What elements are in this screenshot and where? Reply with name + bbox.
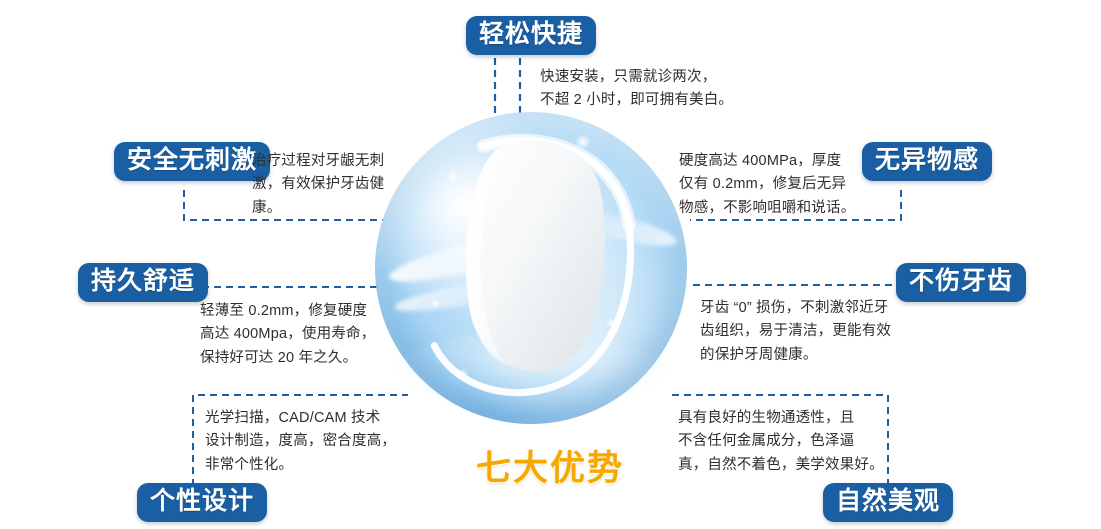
badge-safe[interactable]: 安全无刺激 [114,142,270,181]
center-circle-graphic [375,112,687,424]
desc-natural-beauty: 具有良好的生物通透性，且 不含任何金属成分，色泽逼 真，自然不着色，美学效果好。 [678,407,893,477]
badge-no-foreign-body[interactable]: 无异物感 [862,142,992,181]
desc-fast: 快速安装，只需就诊两次， 不超 2 小时，即可拥有美白。 [540,66,840,113]
connector-comfort [190,285,395,289]
badge-comfort[interactable]: 持久舒适 [78,263,208,302]
badge-custom-design[interactable]: 个性设计 [137,483,267,522]
desc-safe: 治疗过程对牙龈无刺 激，有效保护牙齿健 康。 [252,150,402,220]
center-title: 七大优势 [440,440,660,491]
badge-natural-beauty[interactable]: 自然美观 [823,483,953,522]
desc-custom-design: 光学扫描，CAD/CAM 技术 设计制造，度高，密合度高， 非常个性化。 [205,407,420,477]
desc-comfort: 轻薄至 0.2mm，修复硬度 高达 400Mpa，使用寿命， 保持好可达 20 … [200,300,400,370]
badge-no-harm[interactable]: 不伤牙齿 [896,263,1026,302]
desc-no-harm: 牙齿 “0” 损伤，不刺激邻近牙 齿组织，易于清洁，更能有效 的保护牙周健康。 [700,297,900,367]
badge-fast[interactable]: 轻松快捷 [466,16,596,55]
tooth-icon [456,137,612,380]
connector-no-harm [693,283,898,287]
infographic-canvas: 七大优势 轻松快捷 安全无刺激 无异物感 持久舒适 不伤牙齿 个性设计 自然美观… [0,0,1101,529]
desc-no-foreign-body: 硬度高达 400MPa，厚度 仅有 0.2mm，修复后无异 物感，不影响咀嚼和说… [679,150,869,220]
